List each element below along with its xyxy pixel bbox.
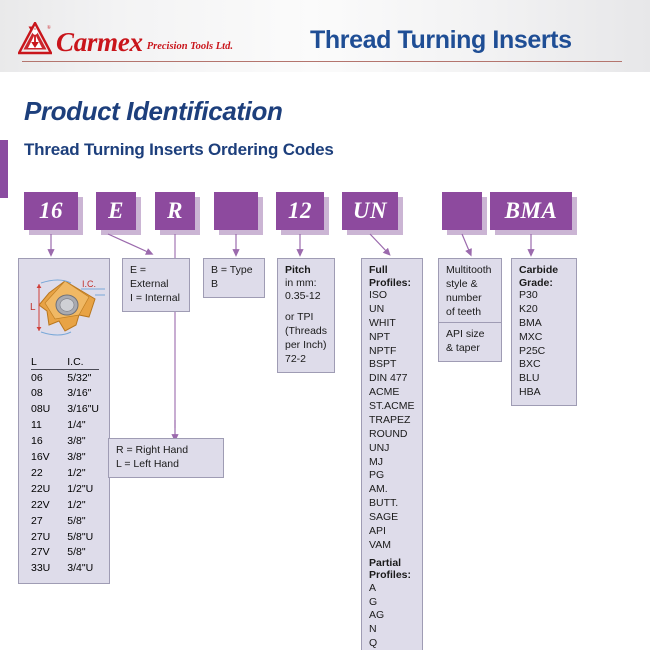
cell-ic: 3/8": [50, 450, 99, 466]
full-profile-item: UNJ: [369, 442, 415, 456]
table-row: 275/8": [31, 513, 99, 529]
multitooth-line: Multitooth: [446, 264, 494, 278]
cell-ic: 1/4": [50, 418, 99, 434]
header-divider: [22, 61, 622, 62]
carbide-grade-item: BMA: [519, 317, 569, 331]
cell-ic: 3/16"U: [50, 402, 99, 418]
table-row: 16V3/8": [31, 450, 99, 466]
table-row: 221/2": [31, 465, 99, 481]
code-box-label: BMA: [505, 198, 558, 224]
brand-logo: ® Carmex Precision Tools Ltd.: [18, 22, 233, 55]
multitooth-box: Multitooth style & number of teeth: [438, 258, 502, 325]
carbide-title: Carbide: [519, 264, 569, 277]
cell-ic: 5/8"U: [50, 529, 99, 545]
cell-l: 16: [31, 434, 50, 450]
multitooth-line: number: [446, 292, 494, 306]
carbide-grade-item: BXC: [519, 358, 569, 372]
insert-illustration-box: L I.C.: [18, 258, 110, 362]
carbide-grade-item: K20: [519, 303, 569, 317]
code-box-bma: BMA: [490, 192, 572, 230]
cell-l: 33U: [31, 561, 50, 577]
cell-l: 08: [31, 386, 50, 402]
table-row: 27U5/8"U: [31, 529, 99, 545]
full-profile-item: UN: [369, 303, 415, 317]
pitch-line: per Inch): [285, 339, 327, 353]
table-header-row: L I.C.: [31, 356, 99, 370]
hand-direction-box: R = Right Hand L = Left Hand: [108, 438, 224, 478]
code-box-16: 16: [24, 192, 78, 230]
pitch-line: 72-2: [285, 353, 327, 367]
cell-l: 11: [31, 418, 50, 434]
carbide-grade-item: MXC: [519, 331, 569, 345]
insert-diagram-icon: L I.C.: [19, 259, 111, 363]
multitooth-line: style &: [446, 278, 494, 292]
full-profile-item: AM. BUTT.: [369, 483, 415, 511]
partial-profile-item: Q: [369, 637, 415, 650]
full-profile-item: API: [369, 525, 415, 539]
table-row: 22V1/2": [31, 497, 99, 513]
partial-profiles-title: Profiles:: [369, 569, 415, 582]
size-table: L I.C. 065/32"083/16"08U3/16"U111/4"163/…: [31, 356, 99, 577]
code-box-label: 16: [39, 198, 63, 224]
pitch-line: (Threads: [285, 325, 327, 339]
multitooth-line: of teeth: [446, 306, 494, 320]
cell-ic: 5/32": [50, 370, 99, 386]
table-row: 111/4": [31, 418, 99, 434]
partial-profile-item: AG: [369, 609, 415, 623]
full-profile-item: MJ: [369, 456, 415, 470]
full-profiles-title: Full: [369, 264, 415, 277]
full-profile-item: SAGE: [369, 511, 415, 525]
cell-l: 06: [31, 370, 50, 386]
svg-text:®: ®: [47, 25, 51, 31]
cell-ic: 5/8": [50, 513, 99, 529]
pitch-box: Pitch in mm: 0.35-12 or TPI (Threads per…: [277, 258, 335, 373]
ei-line: E = External: [130, 264, 182, 292]
full-profile-item: ISO: [369, 289, 415, 303]
page-subtitle: Thread Turning Inserts Ordering Codes: [24, 140, 334, 160]
code-box-un: UN: [342, 192, 398, 230]
full-profile-item: NPT: [369, 331, 415, 345]
svg-text:I.C.: I.C.: [82, 279, 96, 289]
api-line: & taper: [446, 342, 494, 356]
partial-profile-item: G: [369, 596, 415, 610]
full-profile-item: ST.ACME: [369, 400, 415, 414]
cell-ic: 3/4"U: [50, 561, 99, 577]
carbide-grade-item: P25C: [519, 345, 569, 359]
code-box-label: R: [167, 198, 183, 224]
table-row: 08U3/16"U: [31, 402, 99, 418]
cell-l: 16V: [31, 450, 50, 466]
left-accent-bar: [0, 140, 8, 198]
external-internal-box: E = External I = Internal: [122, 258, 190, 312]
table-row: 27V5/8": [31, 545, 99, 561]
api-line: API size: [446, 328, 494, 342]
carbide-grade-box: Carbide Grade: P30K20BMAMXCP25CBXCBLUHBA: [511, 258, 577, 406]
pitch-line: or TPI: [285, 311, 327, 325]
page-header: ® Carmex Precision Tools Ltd. Thread Tur…: [0, 0, 650, 72]
type-box: B = Type B: [203, 258, 265, 298]
full-profile-item: WHIT: [369, 317, 415, 331]
full-profile-item: DIN 477: [369, 372, 415, 386]
carmex-triangle-logo-icon: ®: [18, 22, 52, 55]
cell-l: 22U: [31, 481, 50, 497]
brand-name: Carmex: [56, 29, 143, 56]
code-box-12: 12: [276, 192, 324, 230]
cell-l: 08U: [31, 402, 50, 418]
full-profile-item: TRAPEZ: [369, 414, 415, 428]
code-box-blank-3: [214, 192, 258, 230]
cell-ic: 3/16": [50, 386, 99, 402]
carbide-grade-item: BLU: [519, 372, 569, 386]
header-title: Thread Turning Inserts: [310, 26, 572, 55]
cell-l: 22: [31, 465, 50, 481]
hand-line: L = Left Hand: [116, 458, 216, 472]
code-box-r: R: [155, 192, 195, 230]
api-box: API size & taper: [438, 322, 502, 362]
partial-profile-item: N: [369, 623, 415, 637]
col-header-ic: I.C.: [50, 356, 99, 370]
full-profile-item: BSPT: [369, 358, 415, 372]
pitch-title: Pitch: [285, 264, 327, 277]
table-row: 163/8": [31, 434, 99, 450]
cell-l: 27V: [31, 545, 50, 561]
page-title: Product Identification: [24, 96, 282, 127]
brand-tagline: Precision Tools Ltd.: [147, 42, 233, 53]
type-line: B = Type B: [211, 264, 257, 292]
cell-ic: 1/2": [50, 497, 99, 513]
cell-l: 27: [31, 513, 50, 529]
cell-l: 27U: [31, 529, 50, 545]
cell-l: 22V: [31, 497, 50, 513]
full-profile-item: ACME: [369, 386, 415, 400]
partial-profile-item: A: [369, 582, 415, 596]
code-box-e: E: [96, 192, 136, 230]
cell-ic: 1/2"U: [50, 481, 99, 497]
code-box-blank-6: [442, 192, 482, 230]
table-row: 22U1/2"U: [31, 481, 99, 497]
full-profile-item: VAM: [369, 539, 415, 553]
cell-ic: 3/8": [50, 434, 99, 450]
pitch-line: in mm:: [285, 277, 327, 291]
table-row: 065/32": [31, 370, 99, 386]
partial-profiles-title: Partial: [369, 557, 415, 570]
code-box-label: 12: [288, 198, 312, 224]
full-profile-item: ROUND: [369, 428, 415, 442]
full-profile-item: NPTF: [369, 345, 415, 359]
full-profiles-title: Profiles:: [369, 277, 415, 290]
table-row: 083/16": [31, 386, 99, 402]
carbide-title: Grade:: [519, 277, 569, 290]
full-profile-item: PG: [369, 469, 415, 483]
carbide-grade-item: P30: [519, 289, 569, 303]
col-header-l: L: [31, 356, 50, 370]
ei-line: I = Internal: [130, 292, 182, 306]
carbide-grade-item: HBA: [519, 386, 569, 400]
cell-ic: 5/8": [50, 545, 99, 561]
pitch-line: 0.35-12: [285, 290, 327, 304]
svg-text:L: L: [30, 302, 36, 313]
table-row: 33U3/4"U: [31, 561, 99, 577]
profiles-box: Full Profiles: ISOUNWHITNPTNPTFBSPTDIN 4…: [361, 258, 423, 650]
size-table-box: L I.C. 065/32"083/16"08U3/16"U111/4"163/…: [18, 352, 110, 584]
cell-ic: 1/2": [50, 465, 99, 481]
hand-line: R = Right Hand: [116, 444, 216, 458]
code-box-label: E: [108, 198, 124, 224]
code-box-label: UN: [353, 198, 387, 224]
